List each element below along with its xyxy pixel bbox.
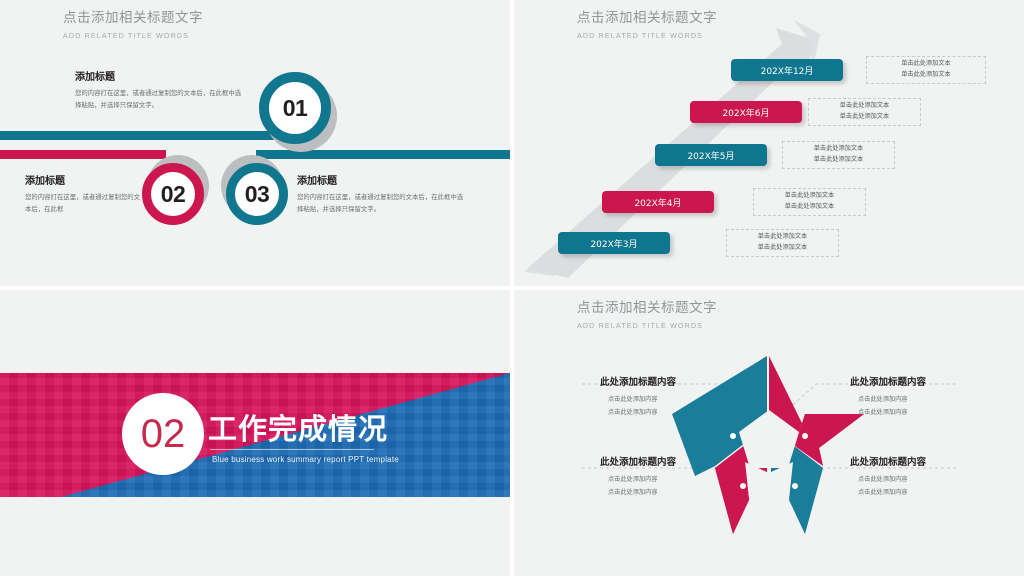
- note-line-5a: 单击此处添加文本: [758, 232, 808, 243]
- section-subtitle: Blue business work summary report PPT te…: [212, 455, 399, 464]
- callout-line-4b: 点击此处添加内容: [858, 487, 1000, 500]
- callout-heading-3: 此处添加标题内容: [600, 454, 750, 468]
- note-line-5b: 单击此处添加文本: [758, 243, 808, 254]
- timeline-label-5: 202X年3月: [590, 237, 637, 250]
- item-heading-02: 添加标题: [25, 172, 145, 187]
- note-line-4a: 单击此处添加文本: [785, 191, 835, 202]
- page-subtitle: ADD RELATED TITLE WORDS: [577, 321, 717, 330]
- timeline-bar-1[interactable]: 202X年12月: [731, 59, 843, 81]
- timeline-label-3: 202X年5月: [687, 149, 734, 162]
- ring-number-01: 01: [283, 95, 308, 122]
- callout-top-left: 此处添加标题内容 点击此处添加内容 点击此处添加内容: [600, 374, 750, 419]
- slide-thumbnail-3[interactable]: 02 工作完成情况 Blue business work summary rep…: [0, 290, 510, 576]
- slide-deck-overview: 点击添加相关标题文字 ADD RELATED TITLE WORDS 01 02…: [0, 0, 1024, 577]
- callout-line-1b: 点击此处添加内容: [608, 407, 750, 420]
- timeline-label-4: 202X年4月: [634, 196, 681, 209]
- timeline-note-5[interactable]: 单击此处添加文本 单击此处添加文本: [726, 229, 839, 257]
- note-line-1a: 单击此处添加文本: [901, 59, 951, 70]
- item-body-01: 您的内容打在这里，或者通过复制您的文本后，在此框中选择粘贴，并选择只保留文字。: [75, 88, 243, 112]
- section-divider-rule: [210, 449, 374, 450]
- note-line-2b: 单击此处添加文本: [840, 112, 890, 123]
- timeline-bar-3[interactable]: 202X年5月: [655, 144, 767, 166]
- star-node-top-right: [802, 433, 808, 439]
- page-title: 点击添加相关标题文字: [577, 300, 717, 318]
- callout-heading-4: 此处添加标题内容: [850, 454, 1000, 468]
- item-body-03: 您的内容打在这里，或者通过复制您的文本后，在此框中选择粘贴，并选择只保留文字。: [297, 192, 465, 216]
- note-line-4b: 单击此处添加文本: [785, 202, 835, 213]
- decorative-bar-teal-top: [0, 131, 292, 140]
- callout-line-2b: 点击此处添加内容: [858, 407, 1000, 420]
- timeline-note-2[interactable]: 单击此处添加文本 单击此处添加文本: [808, 98, 921, 126]
- slide-thumbnail-1[interactable]: 点击添加相关标题文字 ADD RELATED TITLE WORDS 01 02…: [0, 0, 510, 286]
- item-heading-03: 添加标题: [297, 172, 465, 187]
- slide1-header: 点击添加相关标题文字 ADD RELATED TITLE WORDS: [63, 10, 203, 40]
- note-line-2a: 单击此处添加文本: [840, 101, 890, 112]
- callout-line-1a: 点击此处添加内容: [608, 394, 750, 407]
- slide4-header: 点击添加相关标题文字 ADD RELATED TITLE WORDS: [577, 300, 717, 330]
- note-line-3a: 单击此处添加文本: [814, 144, 864, 155]
- callout-line-3a: 点击此处添加内容: [608, 474, 750, 487]
- callout-top-right: 此处添加标题内容 点击此处添加内容 点击此处添加内容: [850, 374, 1000, 419]
- star-node-top-left: [730, 433, 736, 439]
- text-block-01: 添加标题 您的内容打在这里，或者通过复制您的文本后，在此框中选择粘贴，并选择只保…: [75, 68, 243, 112]
- slide-thumbnail-4[interactable]: 点击添加相关标题文字 ADD RELATED TITLE WORDS: [514, 290, 1024, 576]
- callout-line-2a: 点击此处添加内容: [858, 394, 1000, 407]
- numbered-ring-03[interactable]: 03: [226, 163, 288, 225]
- ring-number-02: 02: [161, 181, 186, 208]
- callout-heading-1: 此处添加标题内容: [600, 374, 750, 388]
- note-line-1b: 单击此处添加文本: [901, 70, 951, 81]
- section-title: 工作完成情况: [208, 406, 388, 448]
- numbered-ring-02[interactable]: 02: [142, 163, 204, 225]
- text-block-03: 添加标题 您的内容打在这里，或者通过复制您的文本后，在此框中选择粘贴，并选择只保…: [297, 172, 465, 216]
- star-node-bottom-right: [792, 483, 798, 489]
- timeline-bar-5[interactable]: 202X年3月: [558, 232, 670, 254]
- timeline-bar-2[interactable]: 202X年6月: [690, 101, 802, 123]
- decorative-bar-pink: [0, 150, 166, 159]
- text-block-02: 添加标题 您的内容打在这里，或者通过复制您的文本后，在此框: [25, 172, 145, 216]
- section-divider-banner: 02 工作完成情况 Blue business work summary rep…: [0, 373, 510, 497]
- page-title: 点击添加相关标题文字: [63, 10, 203, 28]
- callout-bottom-right: 此处添加标题内容 点击此处添加内容 点击此处添加内容: [850, 454, 1000, 499]
- timeline-note-1[interactable]: 单击此处添加文本 单击此处添加文本: [866, 56, 986, 84]
- callout-line-4a: 点击此处添加内容: [858, 474, 1000, 487]
- timeline-label-2: 202X年6月: [722, 106, 769, 119]
- numbered-ring-01[interactable]: 01: [259, 72, 331, 144]
- item-heading-01: 添加标题: [75, 68, 243, 83]
- callout-line-3b: 点击此处添加内容: [608, 487, 750, 500]
- page-subtitle: ADD RELATED TITLE WORDS: [63, 31, 203, 40]
- note-line-3b: 单击此处添加文本: [814, 155, 864, 166]
- item-body-02: 您的内容打在这里，或者通过复制您的文本后，在此框: [25, 192, 145, 216]
- timeline-bar-4[interactable]: 202X年4月: [602, 191, 714, 213]
- ring-number-03: 03: [245, 181, 270, 208]
- section-number-badge: 02: [122, 393, 204, 475]
- timeline-label-1: 202X年12月: [761, 64, 814, 77]
- timeline-note-4[interactable]: 单击此处添加文本 单击此处添加文本: [753, 188, 866, 216]
- timeline-note-3[interactable]: 单击此处添加文本 单击此处添加文本: [782, 141, 895, 169]
- callout-bottom-left: 此处添加标题内容 点击此处添加内容 点击此处添加内容: [600, 454, 750, 499]
- callout-heading-2: 此处添加标题内容: [850, 374, 1000, 388]
- slide-thumbnail-2[interactable]: 点击添加相关标题文字 ADD RELATED TITLE WORDS 202X年…: [514, 0, 1024, 286]
